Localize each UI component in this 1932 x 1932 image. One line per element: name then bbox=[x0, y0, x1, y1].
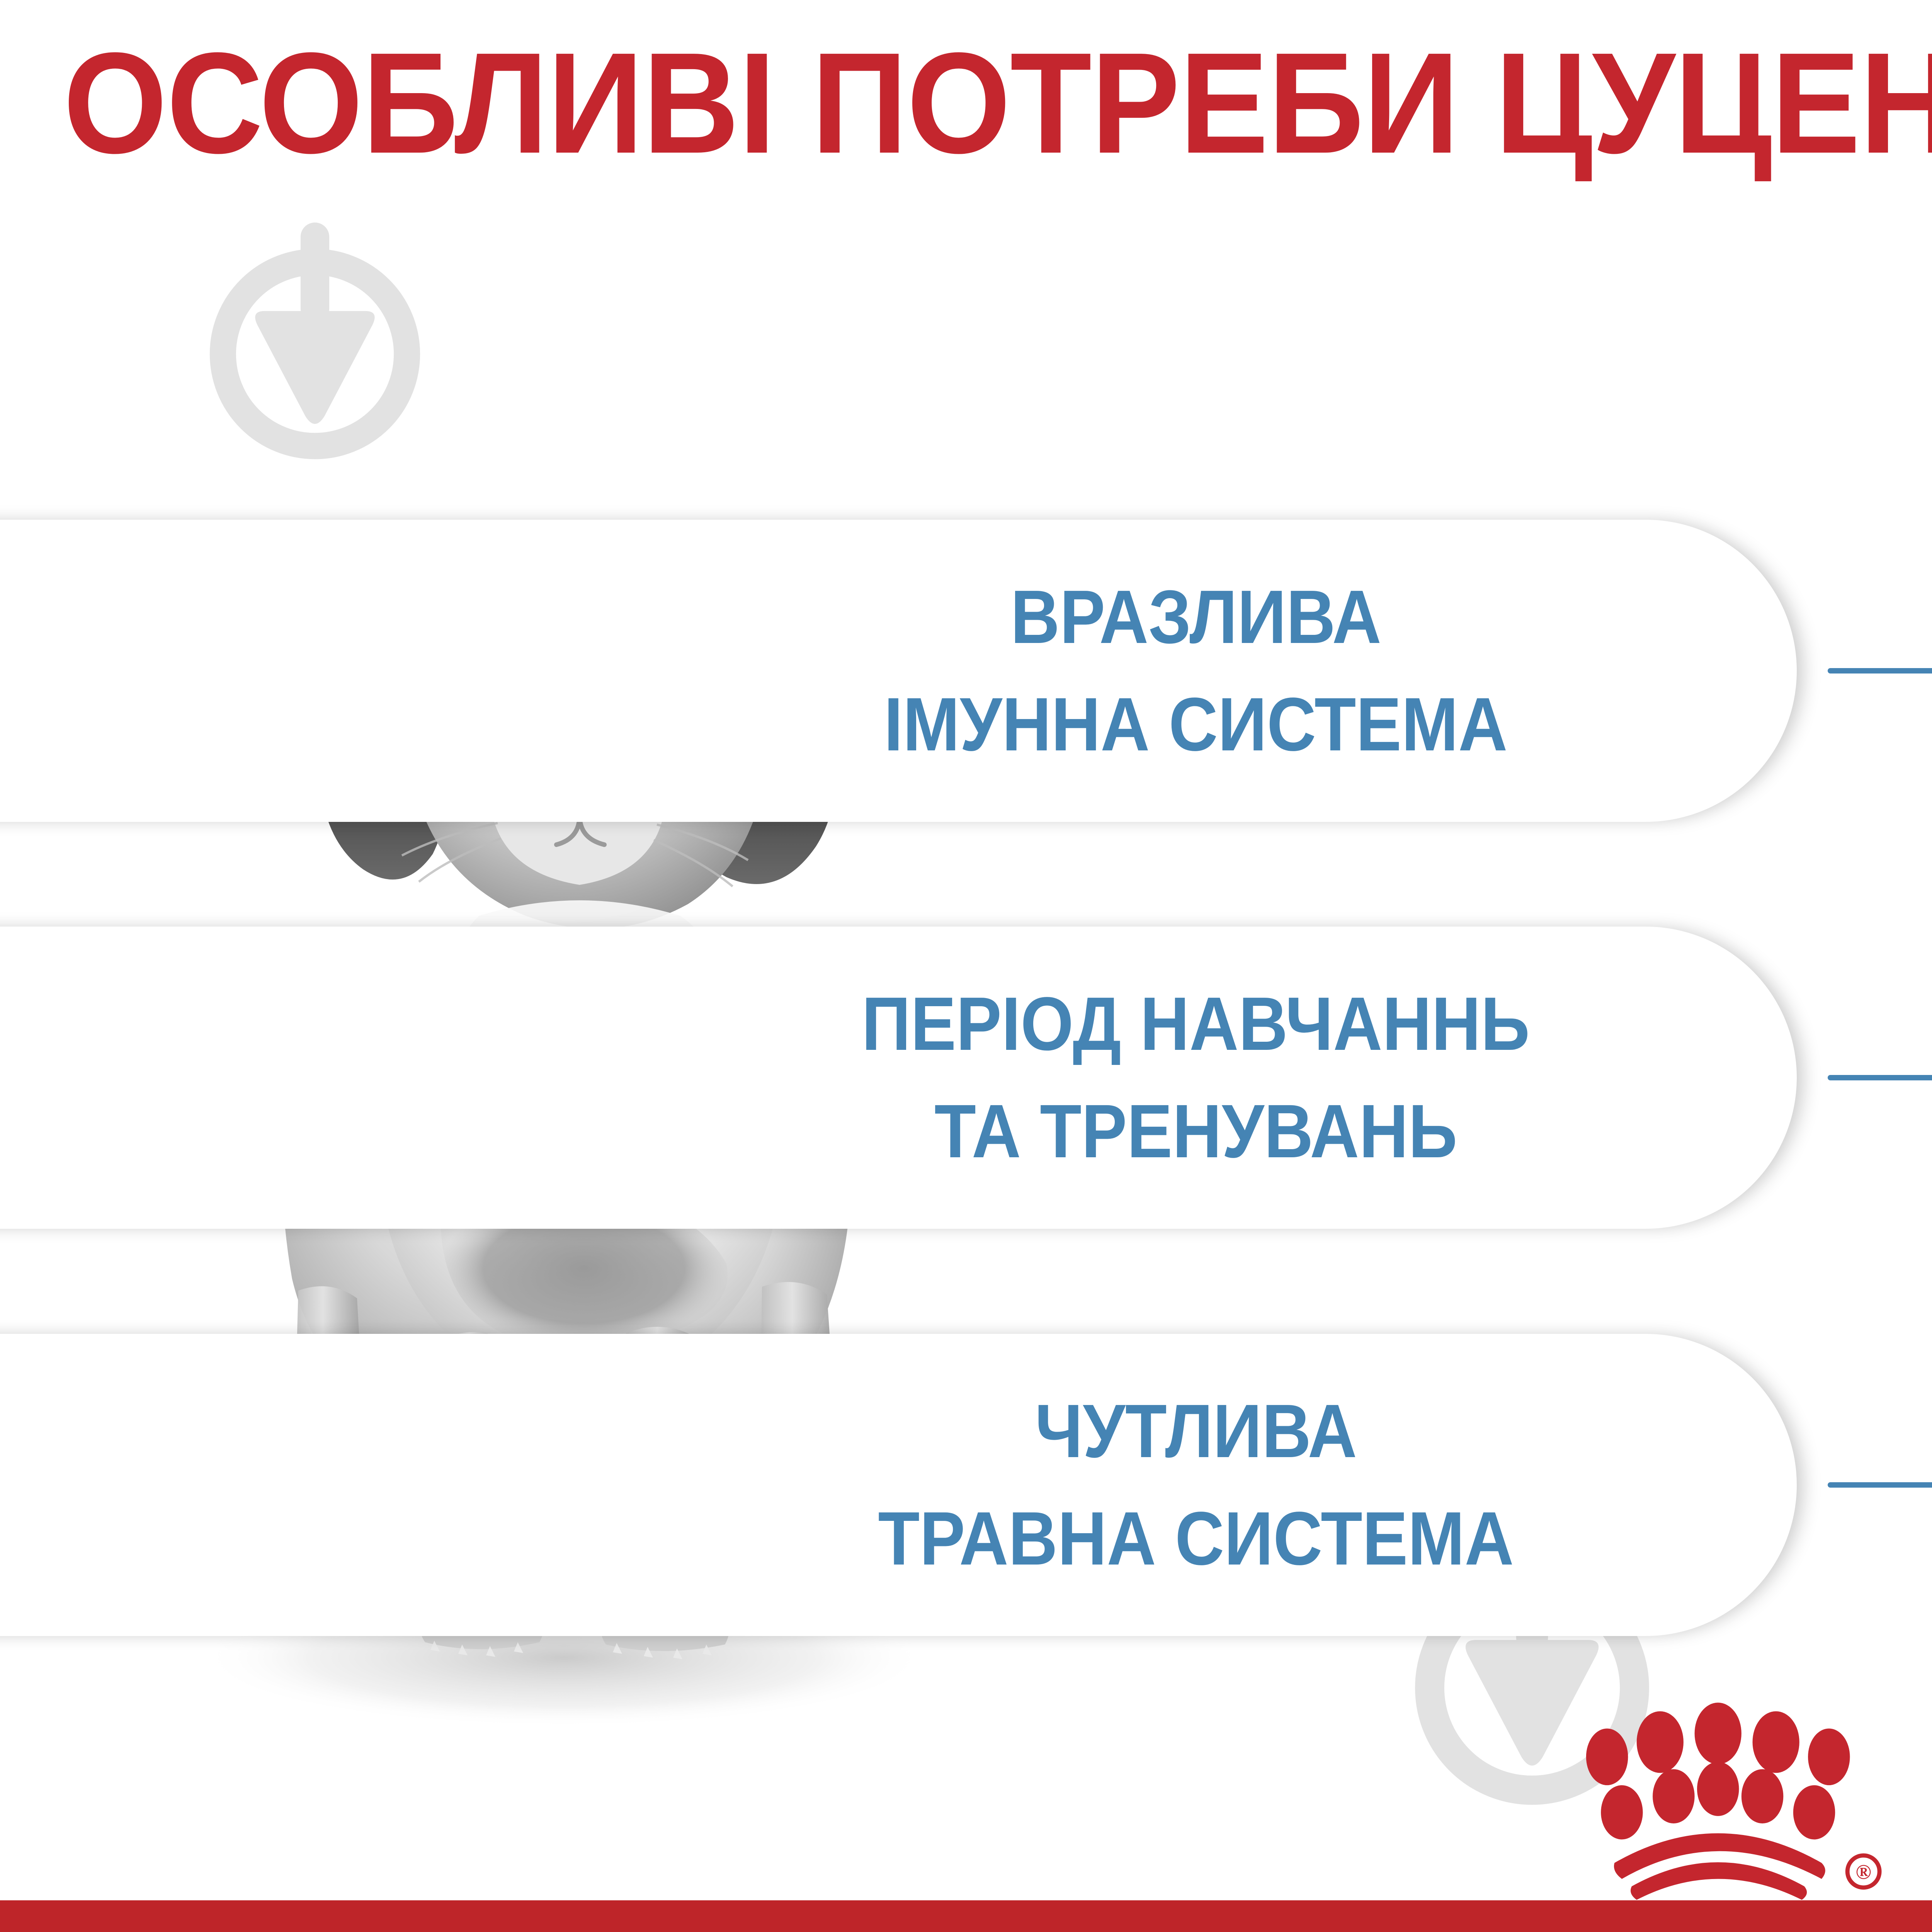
dog-tag-circle-icon bbox=[195, 211, 435, 468]
need-label-line2: ТРАВНА СИСТЕМА bbox=[878, 1485, 1514, 1592]
need-label-line1: ВРАЗЛИВА bbox=[1010, 563, 1381, 671]
need-card: ЧУТЛИВА ТРАВНА СИСТЕМА bbox=[0, 1334, 1797, 1636]
need-connector-line bbox=[1828, 1482, 1932, 1488]
need-label-line2: ТА ТРЕНУВАНЬ bbox=[934, 1078, 1457, 1185]
royal-canin-crown-icon: ® bbox=[1582, 1700, 1903, 1901]
need-connector-line bbox=[1828, 668, 1932, 673]
need-card: ВРАЗЛИВА ІМУННА СИСТЕМА bbox=[0, 520, 1797, 822]
bottom-accent-bar bbox=[0, 1900, 1932, 1932]
need-label-line1: ЧУТЛИВА bbox=[1035, 1378, 1357, 1485]
need-label-line1: ПЕРІОД НАВЧАННЬ bbox=[862, 970, 1530, 1078]
poster-canvas: ОСОБЛИВІ ПОТРЕБИ ЦУЦЕНЯТ bbox=[0, 0, 1932, 1932]
page-title: ОСОБЛИВІ ПОТРЕБИ ЦУЦЕНЯТ bbox=[63, 31, 1745, 175]
need-label-line2: ІМУННА СИСТЕМА bbox=[884, 671, 1508, 778]
need-connector-line bbox=[1828, 1075, 1932, 1080]
registered-mark-glyph: ® bbox=[1855, 1861, 1871, 1884]
need-card: ПЕРІОД НАВЧАННЬ ТА ТРЕНУВАНЬ bbox=[0, 927, 1797, 1229]
